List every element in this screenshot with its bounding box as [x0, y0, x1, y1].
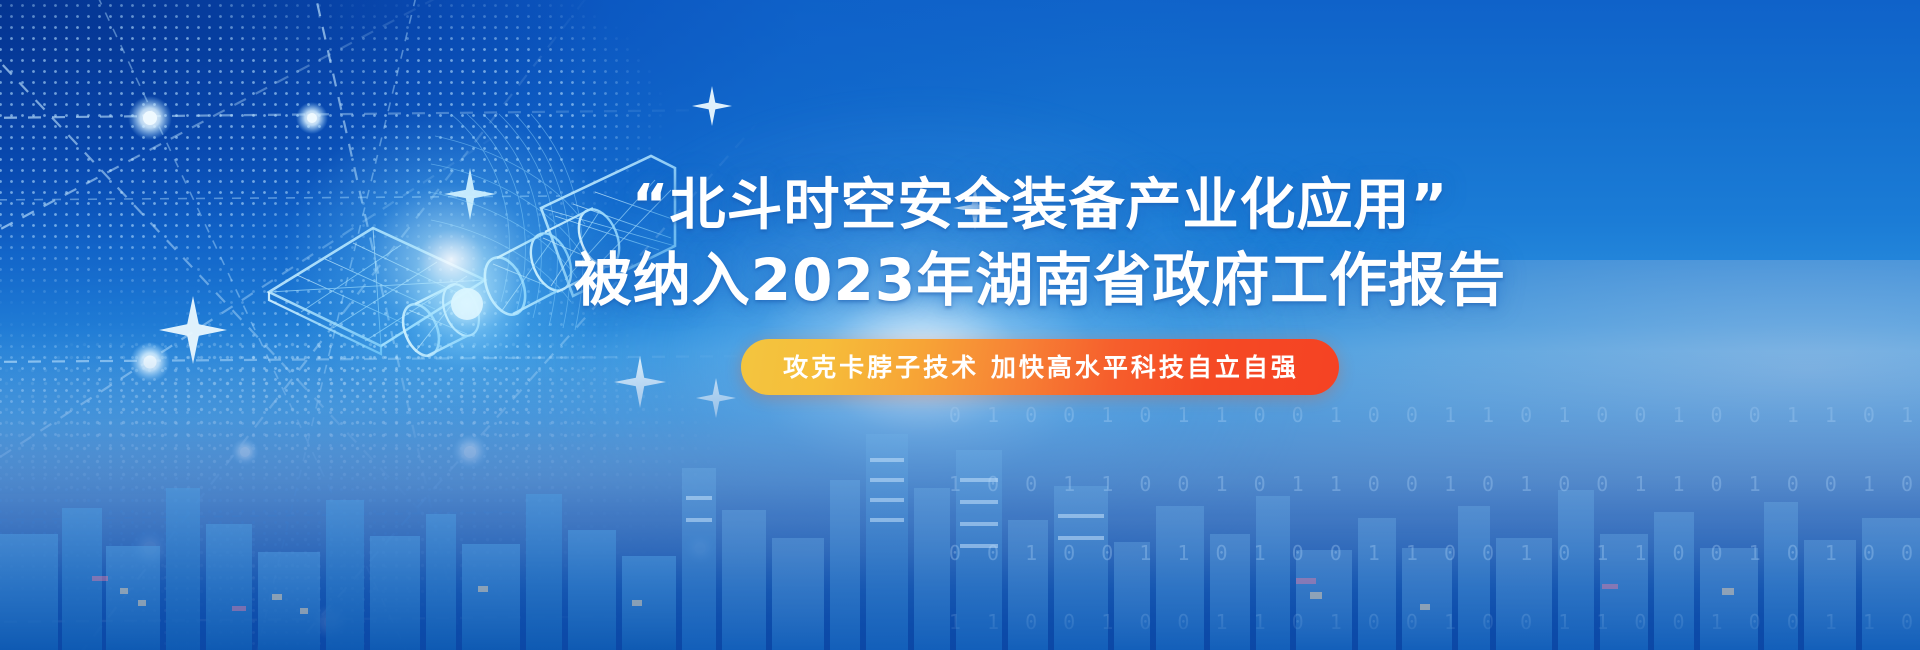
headline-line-2: 被纳入2023年湖南省政府工作报告: [160, 248, 1920, 313]
banner-copy-block: “北斗时空安全装备产业化应用” 被纳入2023年湖南省政府工作报告 攻克卡脖子技…: [0, 175, 1920, 395]
promo-banner: 0 1 0 0 1 0 1 1 0 0 1 0 0 1 1 0 1 0 0 1 …: [0, 0, 1920, 650]
headline-line-1: “北斗时空安全装备产业化应用”: [160, 175, 1920, 238]
slogan-pill: 攻克卡脖子技术 加快高水平科技自立自强: [741, 339, 1339, 395]
slogan-row: 攻克卡脖子技术 加快高水平科技自立自强: [160, 339, 1920, 395]
